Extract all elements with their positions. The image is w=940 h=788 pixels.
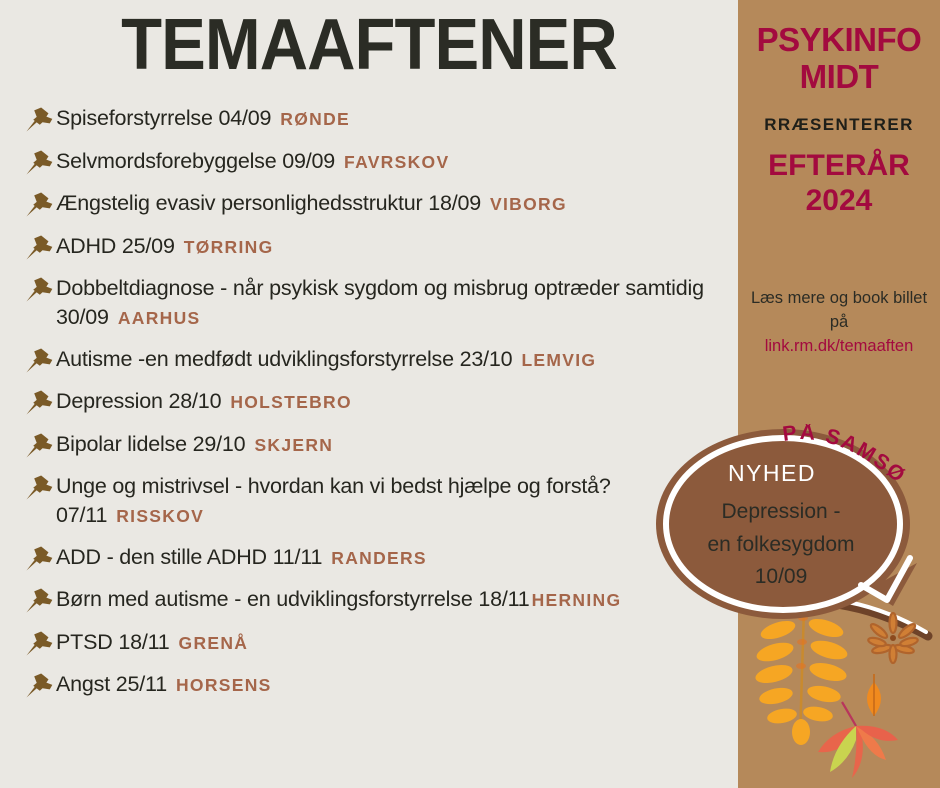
season-label: EFTERÅR	[738, 149, 940, 182]
bubble-line-3: 10/09	[669, 561, 893, 594]
event-title: Bipolar lidelse 29/10	[56, 432, 245, 456]
event-city: VIBORG	[490, 194, 567, 214]
presents-label: RRÆSENTERER	[738, 115, 940, 135]
event-text: ADD - den stille ADHD 11/11RANDERS	[56, 542, 427, 572]
event-title: ADHD 25/09	[56, 234, 175, 258]
pushpin-icon	[24, 149, 56, 176]
event-title: Børn med autisme - en udviklingsforstyrr…	[56, 587, 530, 611]
brand-name-line1: PSYKINFO	[738, 22, 940, 59]
page-title: TEMAAFTENER	[26, 8, 712, 84]
event-city: HERNING	[532, 590, 622, 610]
event-row[interactable]: Autisme -en medfødt udviklingsforstyrrel…	[24, 344, 738, 374]
event-title: ADD - den stille ADHD 11/11	[56, 545, 322, 569]
pushpin-icon	[24, 587, 56, 614]
event-text: Bipolar lidelse 29/10SKJERN	[56, 429, 333, 459]
event-title: PTSD 18/11	[56, 630, 170, 654]
brand-name-line2: MIDT	[738, 59, 940, 96]
event-row[interactable]: Selvmordsforebyggelse 09/09FAVRSKOV	[24, 146, 738, 176]
event-city: FAVRSKOV	[344, 152, 449, 172]
event-row[interactable]: PTSD 18/11GRENÅ	[24, 627, 738, 657]
event-city: TØRRING	[184, 237, 274, 257]
event-text: Børn med autisme - en udviklingsforstyrr…	[56, 584, 621, 614]
event-city: RØNDE	[280, 109, 350, 129]
event-text: Depression 28/10HOLSTEBRO	[56, 386, 352, 416]
event-row[interactable]: Bipolar lidelse 29/10SKJERN	[24, 429, 738, 459]
pushpin-icon	[24, 474, 56, 501]
event-row[interactable]: Angst 25/11HORSENS	[24, 669, 738, 699]
event-text: Dobbeltdiagnose - når psykisk sygdom og …	[56, 273, 738, 331]
event-row[interactable]: ADHD 25/09TØRRING	[24, 231, 738, 261]
pushpin-icon	[24, 630, 56, 657]
small-orange-leaf-icon	[867, 674, 881, 716]
event-city: LEMVIG	[521, 350, 596, 370]
pushpin-icon	[24, 276, 56, 303]
booking-link[interactable]: link.rm.dk/temaaften	[738, 337, 940, 356]
pushpin-icon	[24, 545, 56, 572]
event-text: Autisme -en medfødt udviklingsforstyrrel…	[56, 344, 596, 374]
event-title: Selvmordsforebyggelse 09/09	[56, 149, 335, 173]
event-city: HORSENS	[176, 675, 272, 695]
event-city: GRENÅ	[179, 633, 249, 653]
pushpin-icon	[24, 389, 56, 416]
pushpin-icon	[24, 432, 56, 459]
news-speech-bubble: PÅ SAMSØ NYHED Depression - en folkesygd…	[655, 428, 940, 643]
event-title: Spiseforstyrrelse 04/09	[56, 106, 271, 130]
event-title: Autisme -en medfødt udviklingsforstyrrel…	[56, 347, 512, 371]
bubble-line-2: en folkesygdom	[669, 529, 893, 562]
event-row[interactable]: Depression 28/10HOLSTEBRO	[24, 386, 738, 416]
event-title: Ængstelig evasiv personlighedsstruktur 1…	[56, 191, 481, 215]
event-row[interactable]: Ængstelig evasiv personlighedsstruktur 1…	[24, 188, 738, 218]
booking-text: Læs mere og book billet på	[738, 287, 940, 335]
nyhed-badge: NYHED	[707, 460, 837, 487]
bubble-body: Depression - en folkesygdom 10/09	[669, 496, 893, 594]
left-column: TEMAAFTENER Spiseforstyrrelse 04/09RØNDE…	[0, 0, 738, 788]
bubble-line-1: Depression -	[669, 496, 893, 529]
event-title: Depression 28/10	[56, 389, 221, 413]
event-row[interactable]: Spiseforstyrrelse 04/09RØNDE	[24, 103, 738, 133]
event-row[interactable]: Unge og mistrivsel - hvordan kan vi beds…	[24, 471, 738, 529]
event-row[interactable]: Dobbeltdiagnose - når psykisk sygdom og …	[24, 273, 738, 331]
event-city: RANDERS	[331, 548, 427, 568]
event-city: HOLSTEBRO	[230, 392, 352, 412]
event-text: Selvmordsforebyggelse 09/09FAVRSKOV	[56, 146, 449, 176]
event-title: Angst 25/11	[56, 672, 167, 696]
event-row[interactable]: ADD - den stille ADHD 11/11RANDERS	[24, 542, 738, 572]
event-text: Ængstelig evasiv personlighedsstruktur 1…	[56, 188, 567, 218]
event-city: RISSKOV	[116, 506, 204, 526]
bubble-content: NYHED Depression - en folkesygdom 10/09	[655, 428, 940, 620]
poster-root: TEMAAFTENER Spiseforstyrrelse 04/09RØNDE…	[0, 0, 940, 788]
event-text: Unge og mistrivsel - hvordan kan vi beds…	[56, 471, 738, 529]
event-text: Spiseforstyrrelse 04/09RØNDE	[56, 103, 350, 133]
event-text: Angst 25/11HORSENS	[56, 669, 272, 699]
pushpin-icon	[24, 234, 56, 261]
pushpin-icon	[24, 191, 56, 218]
pushpin-icon	[24, 106, 56, 133]
event-row[interactable]: Børn med autisme - en udviklingsforstyrr…	[24, 584, 738, 614]
pushpin-icon	[24, 347, 56, 374]
year-label: 2024	[738, 184, 940, 217]
event-city: SKJERN	[254, 435, 333, 455]
event-list: Spiseforstyrrelse 04/09RØNDESelvmordsfor…	[24, 103, 738, 712]
pushpin-icon	[24, 672, 56, 699]
event-text: ADHD 25/09TØRRING	[56, 231, 274, 261]
event-text: PTSD 18/11GRENÅ	[56, 627, 248, 657]
event-city: AARHUS	[118, 308, 201, 328]
